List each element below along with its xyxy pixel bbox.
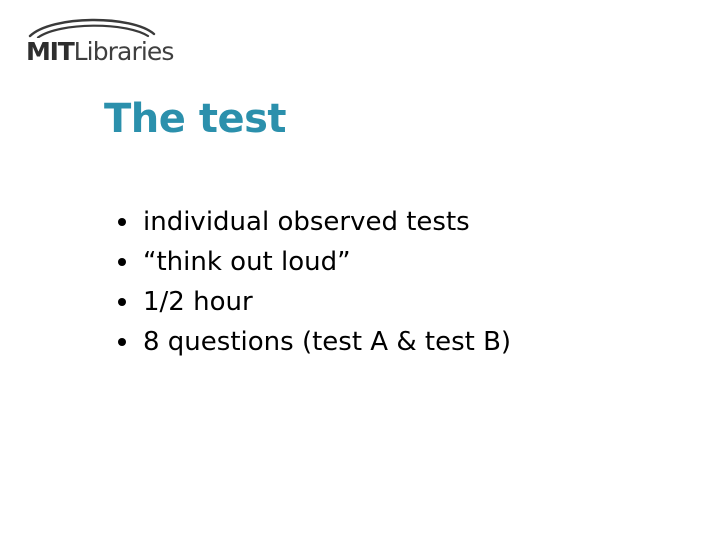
list-item-label: 8 questions (test A & test B) [143,327,511,357]
logo-arc-icon [26,12,158,38]
list-item: 8 questions (test A & test B) [116,322,676,362]
bullet-point-icon [118,218,126,226]
list-item: 1/2 hour [116,282,676,322]
list-item: “think out loud” [116,242,676,282]
list-item-label: 1/2 hour [143,287,253,317]
list-item: individual observed tests [116,202,676,242]
slide-title: The test [104,96,286,142]
logo-wordmark: MITLibraries [26,38,174,66]
mit-libraries-logo: MITLibraries [26,12,166,72]
bullet-point-icon [118,298,126,306]
bullet-point-icon [118,258,126,266]
logo-mit-text: MIT [26,37,74,66]
list-item-label: individual observed tests [143,207,470,237]
logo-libraries-text: Libraries [74,37,174,66]
list-item-label: “think out loud” [143,247,351,277]
bullet-point-icon [118,338,126,346]
bullet-list: individual observed tests “think out lou… [116,202,676,362]
presentation-slide: MITLibraries The test individual observe… [0,0,719,539]
